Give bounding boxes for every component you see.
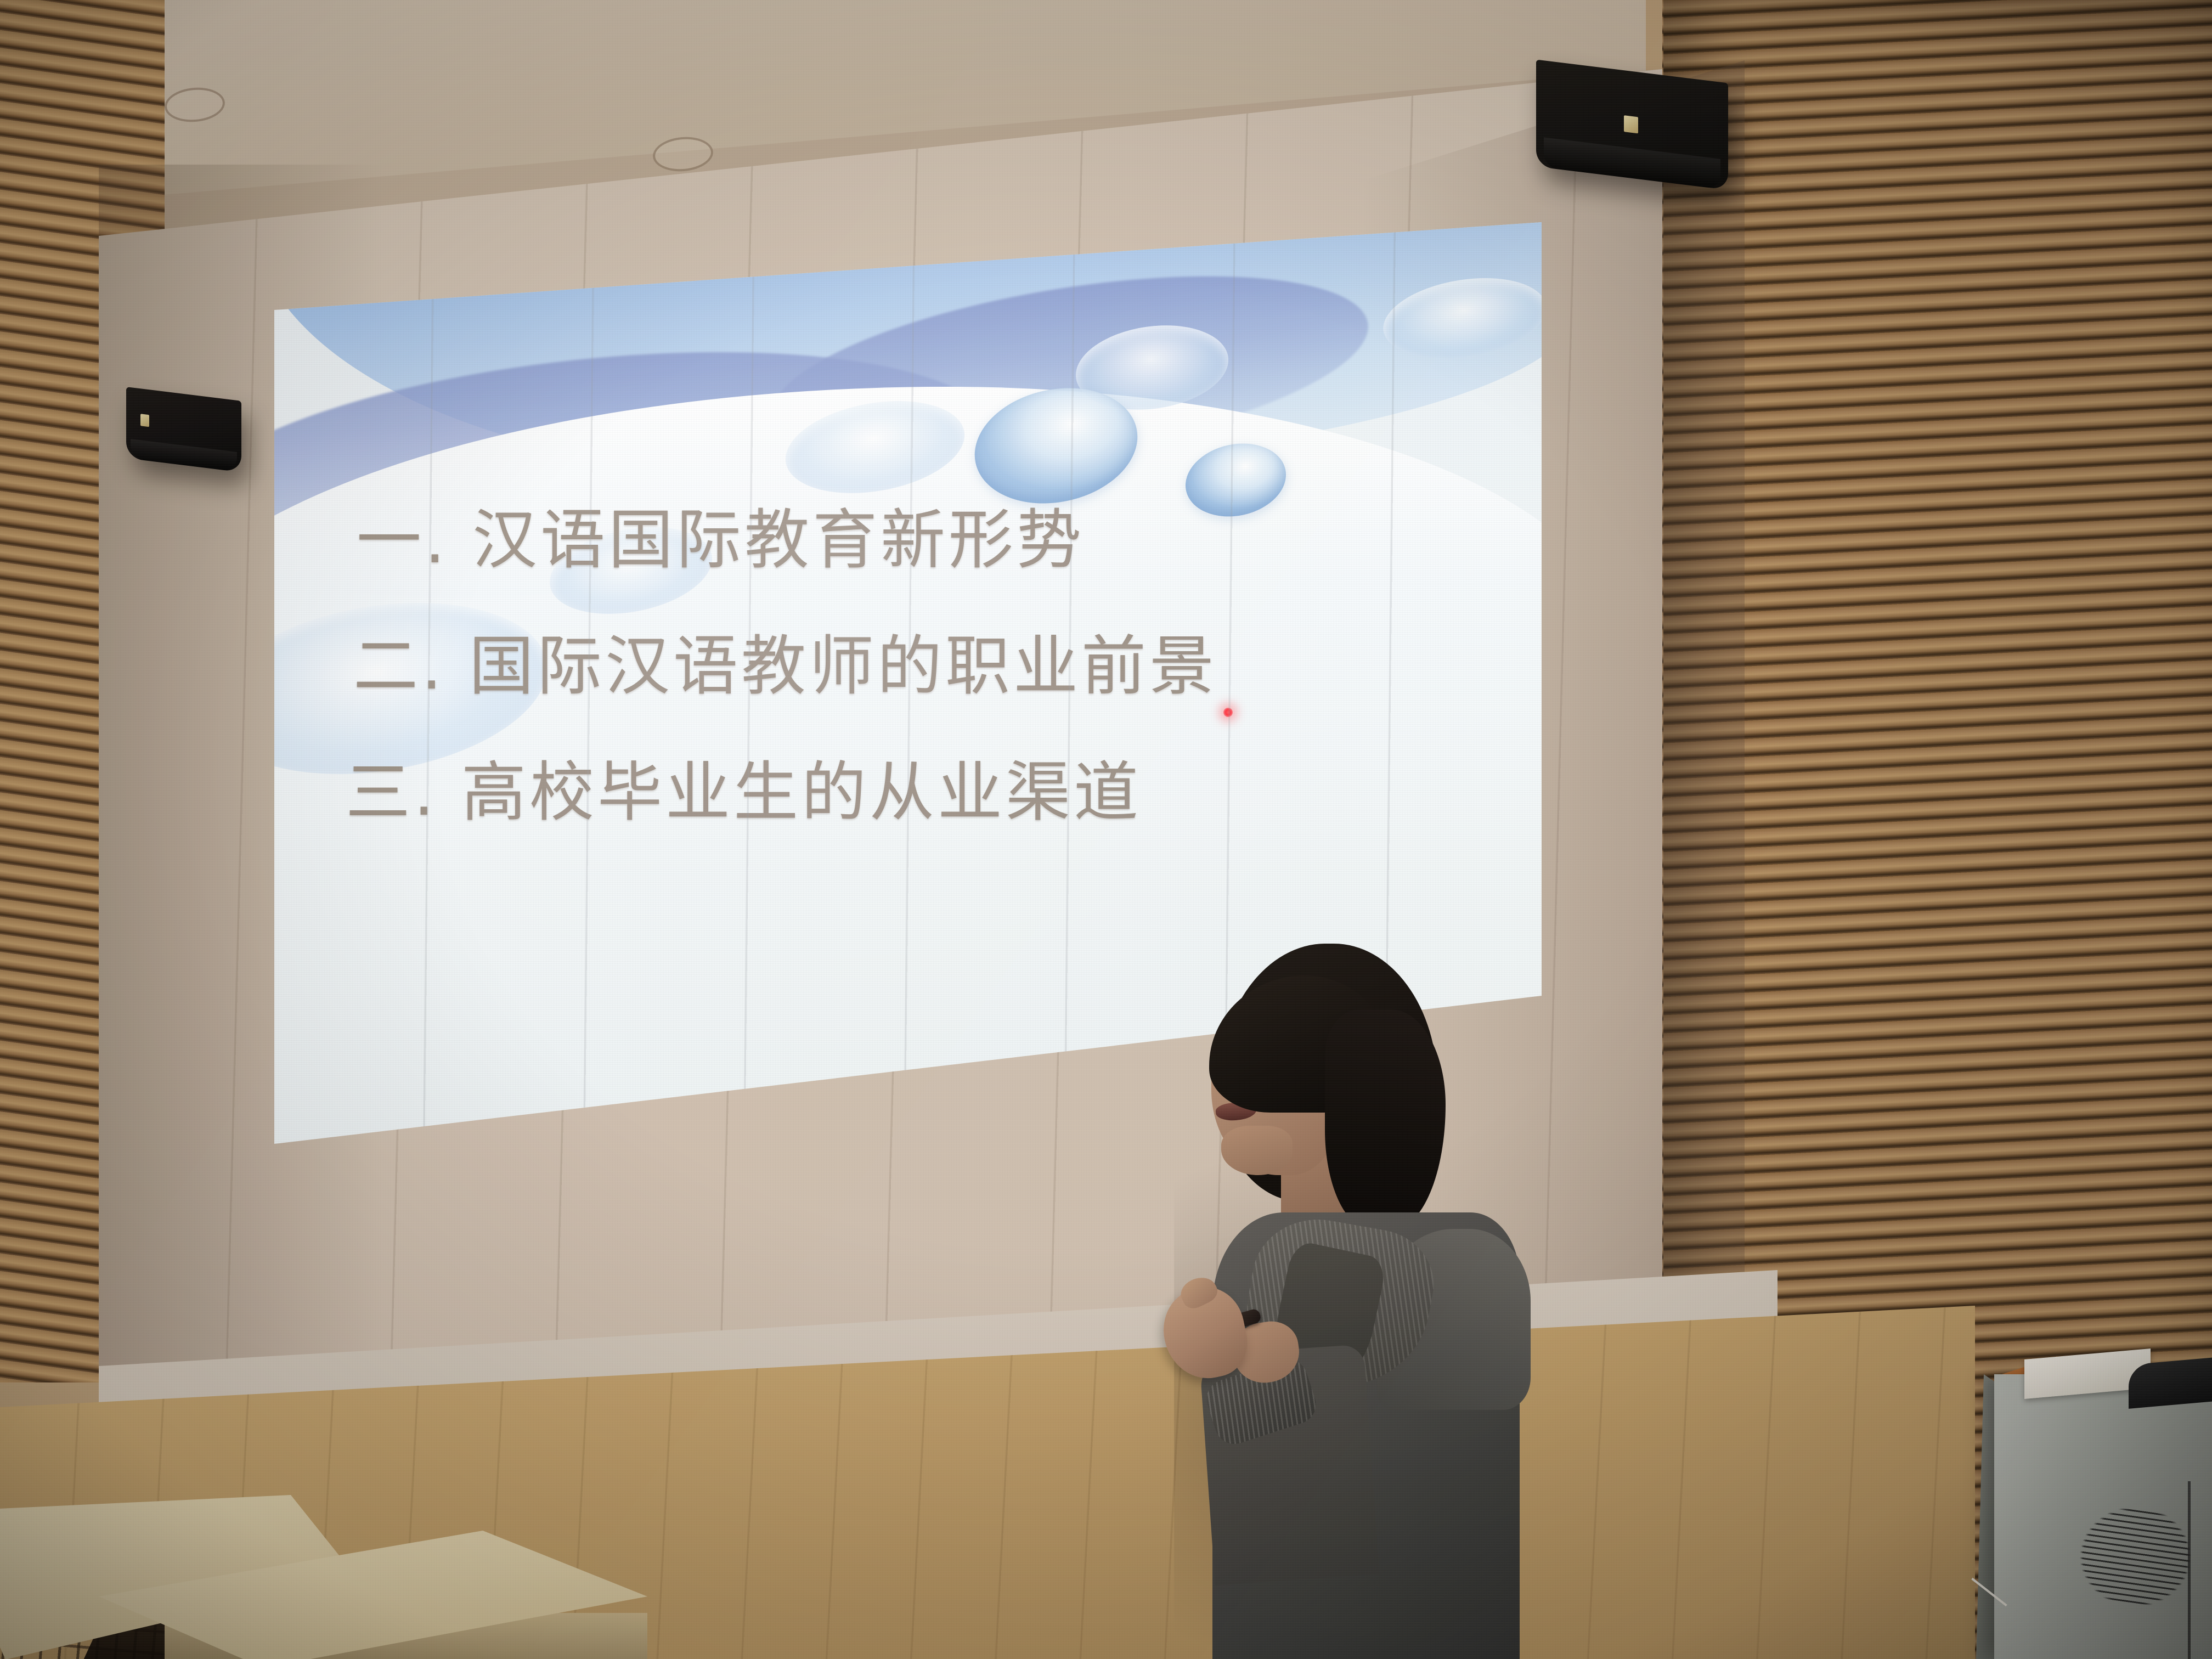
presenter-hair-side — [1325, 1009, 1446, 1229]
podium-panel-edge — [2188, 1481, 2191, 1659]
podium-speaker-grille-icon — [2079, 1506, 2192, 1607]
laser-pointer-dot — [1223, 708, 1233, 717]
slide-agenda-list: 一. 汉语国际教育新形势 二. 国际汉语教师的职业前景 三. 高校毕业生的从业渠… — [340, 507, 1492, 825]
presenter-chin — [1221, 1126, 1293, 1175]
presenter-figure — [1196, 944, 1536, 1659]
slide-agenda-item-1: 一. 汉语国际教育新形势 — [357, 507, 1492, 572]
slide-agenda-item-3: 三. 高校毕业生的从业渠道 — [346, 760, 1492, 825]
lecture-hall-photo: 一. 汉语国际教育新形势 二. 国际汉语教师的职业前景 三. 高校毕业生的从业渠… — [0, 0, 2212, 1659]
speaker-badge-icon — [1624, 115, 1638, 133]
slide-agenda-item-2: 二. 国际汉语教师的职业前景 — [353, 634, 1492, 698]
speaker-badge-icon — [140, 414, 149, 427]
wall-speaker-left — [126, 387, 241, 472]
